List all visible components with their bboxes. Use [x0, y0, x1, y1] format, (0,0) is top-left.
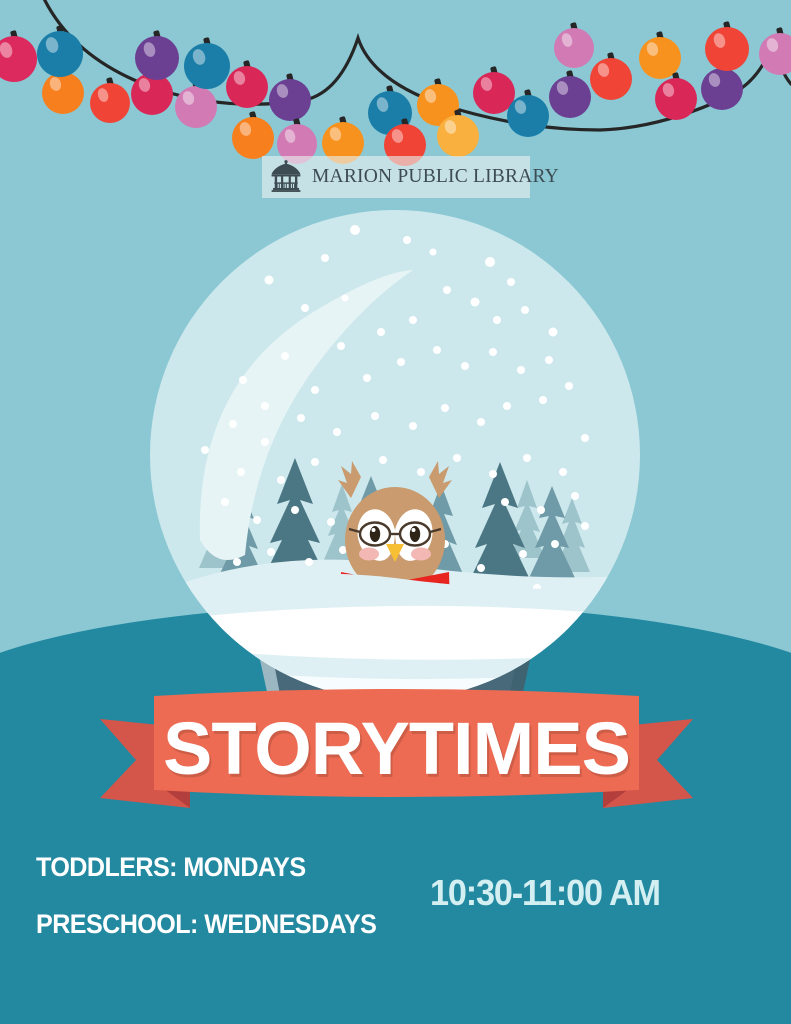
bulb-cap	[718, 62, 726, 72]
banner-title: STORYTIMES	[98, 686, 695, 818]
light-bulb	[590, 58, 632, 100]
light-bulb	[437, 115, 479, 157]
light-bulb	[368, 91, 412, 135]
light-bulb	[0, 36, 37, 82]
bulb-cap	[59, 66, 67, 76]
storytimes-banner: STORYTIMES	[98, 686, 695, 818]
light-bulb	[131, 73, 173, 115]
bulb-cap	[339, 116, 347, 126]
light-bulb	[759, 33, 791, 75]
light-bulb	[226, 66, 268, 108]
snow-globe	[145, 210, 645, 710]
globe-sphere	[135, 210, 665, 710]
bulb-cap	[723, 21, 731, 31]
bulb-cap	[56, 25, 64, 35]
library-logo: MARION PUBLIC LIBRARY	[262, 156, 530, 198]
bulb-cap	[570, 22, 578, 32]
bulb-cap	[293, 118, 301, 128]
light-bulb	[549, 76, 591, 118]
string-lights	[0, 0, 791, 150]
bulb-cap	[776, 27, 784, 37]
bulb-cap	[148, 67, 156, 77]
bulb-cap	[454, 109, 462, 119]
owl-cheek-left	[359, 548, 379, 561]
bulb-cap	[192, 80, 200, 90]
bulb-cap	[386, 85, 394, 95]
bulb-cap	[490, 66, 498, 76]
bulb-cap	[672, 72, 680, 82]
bulb-cap	[434, 78, 442, 88]
schedule-line-preschool: PRESCHOOL: WEDNESDAYS	[36, 909, 427, 940]
light-bulb	[37, 31, 83, 77]
light-bulb	[175, 86, 217, 128]
light-bulb	[701, 68, 743, 110]
gazebo-icon	[268, 159, 304, 195]
schedule-block: TODDLERS: MONDAYS PRESCHOOL: WEDNESDAYS	[36, 852, 456, 966]
bulb-cap	[249, 111, 257, 121]
light-bulb	[90, 83, 130, 123]
light-bulb	[473, 72, 515, 114]
globe-snow-shelf	[135, 574, 665, 679]
bulb-cap	[401, 118, 409, 128]
light-bulb	[135, 36, 179, 80]
bulb-cap	[656, 31, 664, 41]
light-bulb	[417, 84, 459, 126]
storytime-poster: MARION PUBLIC LIBRARY	[0, 0, 791, 1024]
owl-eye-right	[410, 526, 420, 542]
bulb-cap	[203, 37, 211, 47]
bulb-cap	[10, 30, 18, 40]
owl-cheek-right	[411, 548, 431, 561]
bulb-cap	[243, 60, 251, 70]
bulb-cap	[106, 77, 114, 87]
light-bulb	[554, 28, 594, 68]
bulb-cap	[566, 70, 574, 80]
bulb-cap	[607, 52, 615, 62]
schedule-time: 10:30-11:00 AM	[430, 872, 660, 914]
bulb-cap	[524, 89, 532, 99]
library-name: MARION PUBLIC LIBRARY	[312, 166, 559, 188]
light-bulb	[269, 79, 311, 121]
light-bulb	[507, 95, 549, 137]
light-bulb	[639, 37, 681, 79]
owl-eye-left	[370, 526, 380, 542]
bulb-cap	[153, 30, 161, 40]
light-bulb	[232, 117, 274, 159]
bulb-cap	[286, 73, 294, 83]
schedule-line-toddlers: TODDLERS: MONDAYS	[36, 852, 427, 883]
light-bulb	[184, 43, 230, 89]
light-bulb	[655, 78, 697, 120]
light-bulb	[42, 72, 84, 114]
light-wire	[0, 0, 791, 150]
light-bulb	[705, 27, 749, 71]
